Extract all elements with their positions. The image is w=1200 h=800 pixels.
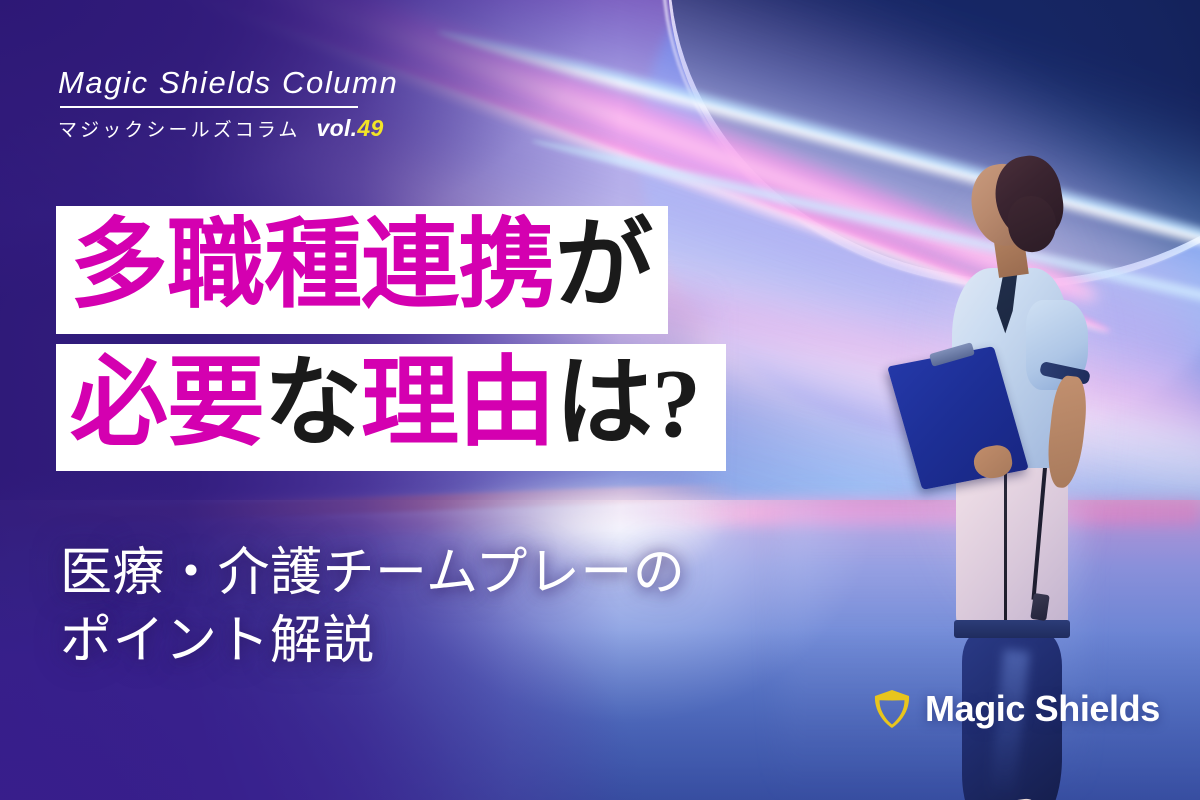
kicker-bottom-row: マジックシールズコラム vol.49 <box>58 115 478 142</box>
volume-label: vol.49 <box>317 115 384 142</box>
brand-logo[interactable]: Magic Shields <box>872 688 1160 730</box>
headline-line-1-wrap: 多職種連携が <box>56 206 726 334</box>
column-thumbnail-banner: Magic Shields Column マジックシールズコラム vol.49 … <box>0 0 1200 800</box>
headline-line-1: 多職種連携が <box>56 206 668 334</box>
headline-line-2-kana-b: は? <box>555 350 700 458</box>
kicker-english-title: Magic Shields Column <box>58 66 478 100</box>
headline-line-2-kana-a: な <box>264 350 361 458</box>
subtitle-line-1: 医療・介護チームプレーの <box>60 540 685 608</box>
volume-prefix: vol. <box>317 115 358 141</box>
figure-apron-hem <box>954 620 1070 638</box>
headline-block: 多職種連携が 必要な理由は? <box>56 206 726 471</box>
shield-icon <box>872 688 912 730</box>
volume-number: 49 <box>357 115 383 141</box>
subtitle-block: 医療・介護チームプレーの ポイント解説 <box>60 540 685 675</box>
kicker-divider-rule <box>60 106 358 108</box>
figure-apron-zipper <box>1004 458 1007 626</box>
headline-line-2-kanji-a: 必要 <box>70 350 264 458</box>
kicker-japanese-title: マジックシールズコラム <box>58 115 301 142</box>
headline-line-2-wrap: 必要な理由は? <box>56 334 726 472</box>
subtitle-line-2: ポイント解説 <box>60 608 685 676</box>
brand-logo-text: Magic Shields <box>925 688 1160 730</box>
column-kicker: Magic Shields Column マジックシールズコラム vol.49 <box>58 66 478 142</box>
headline-line-1-kana: が <box>555 212 652 320</box>
headline-line-2: 必要な理由は? <box>56 344 726 472</box>
headline-line-2-kanji-b: 理由 <box>361 350 555 458</box>
headline-line-1-kanji: 多職種連携 <box>70 212 555 320</box>
